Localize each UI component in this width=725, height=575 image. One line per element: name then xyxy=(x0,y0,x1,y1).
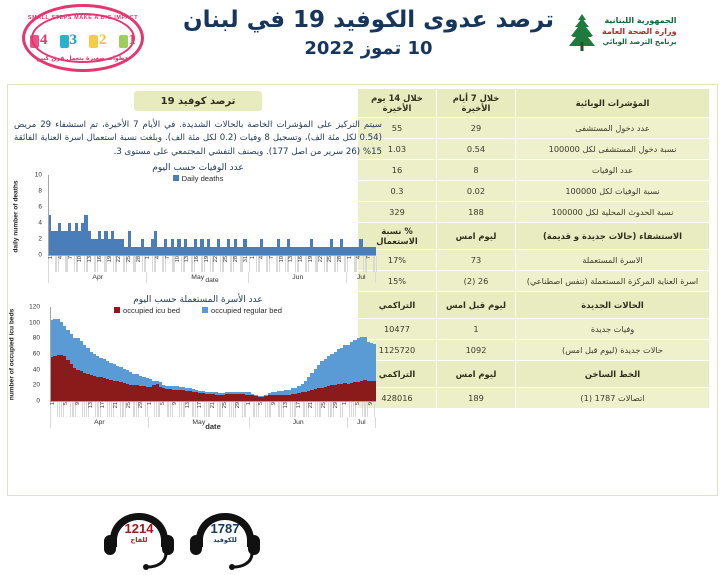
x-tick-label: 31 xyxy=(244,256,250,262)
x-tick: 25 xyxy=(327,256,334,272)
x-tick-label: 9 xyxy=(272,402,278,405)
ministry-label: وزارة الصحة العامة xyxy=(602,27,677,38)
row-value-1: 189 xyxy=(437,388,516,409)
x-tick-label: 1 xyxy=(247,402,253,405)
x-tick: 10 xyxy=(279,256,286,272)
x-tick: 25 xyxy=(125,402,132,417)
x-tick: 9 xyxy=(172,402,179,417)
page-header: SMALL STEPS MAKE A BIG IMPACT 1 2 3 4 xyxy=(0,0,725,80)
table-row: عدد دخول المستشفى 29 55 xyxy=(358,118,710,139)
chart-daily-deaths: عدد الوفيات حسب اليوم Daily deaths daily… xyxy=(12,163,384,281)
x-tick: 19 xyxy=(204,256,211,272)
x-tick: 1 xyxy=(48,256,55,272)
x-tick-label: 7 xyxy=(166,256,172,259)
chart-title: عدد الوفيات حسب اليوم xyxy=(12,163,384,173)
x-tick: 13 xyxy=(184,402,191,417)
logo-slogan-en: SMALL STEPS MAKE A BIG IMPACT xyxy=(22,15,144,21)
x-tick: 1 xyxy=(245,402,252,417)
x-tick-label: 29 xyxy=(334,402,340,408)
x-tick: 17 xyxy=(197,402,204,417)
main-panel: المؤشرات الوبائية خلال 7 أيام الأخيرة خل… xyxy=(7,84,718,496)
x-tick: 16 xyxy=(97,256,104,272)
y-tick-label: 6 xyxy=(38,203,42,210)
x-tick: 13 xyxy=(283,402,290,417)
y-axis-line xyxy=(50,307,51,401)
bars-container xyxy=(50,307,376,401)
y-axis-label: daily number of deaths xyxy=(10,173,22,261)
logo-step-2-number: 2 xyxy=(99,33,107,48)
x-tick-label: 1 xyxy=(148,402,154,405)
x-tick: 7 xyxy=(269,256,276,272)
y-tick-label: 0 xyxy=(36,397,40,404)
y-tick-label: 10 xyxy=(35,171,42,178)
section-title: الاستشفاء (حالات جديدة و قديمة) xyxy=(516,223,710,250)
x-tick: 17 xyxy=(295,402,302,417)
logo-step-4: 4 xyxy=(30,33,48,48)
x-tick-label: 19 xyxy=(108,256,114,262)
col-yesterday: ليوم امس xyxy=(437,361,516,388)
table-row: نسبة الوفيات لكل 100000 0.02 0.3 xyxy=(358,181,710,202)
x-tick-label: 25 xyxy=(127,402,133,408)
status-badge: ترصد كوفيد 19 xyxy=(134,91,262,111)
x-tick-label: 13 xyxy=(289,256,295,262)
x-tick: 9 xyxy=(75,402,82,417)
x-tick-label: 13 xyxy=(185,256,191,262)
x-tick: 5 xyxy=(258,402,265,417)
covid-hotline-number: 1787 xyxy=(186,521,264,536)
x-tick-label: 5 xyxy=(259,402,265,405)
page-title-block: ترصد عدوى الكوفيد 19 في لبنان 10 تموز 20… xyxy=(180,6,557,60)
x-tick: 1 xyxy=(342,402,349,417)
row-label: نسبة دخول المستشفى لكل 100000 xyxy=(516,139,710,160)
x-tick-label: 5 xyxy=(161,402,167,405)
y-tick-label: 2 xyxy=(38,235,42,242)
x-tick-label: 13 xyxy=(89,402,95,408)
chart-plot-area: daily number of deaths 0246810 147101316… xyxy=(12,173,384,281)
x-tick-label: 7 xyxy=(69,256,75,259)
x-tick: 1 xyxy=(147,402,154,417)
x-tick-label: 28 xyxy=(234,256,240,262)
chart-plot-area: number of occupied icu beds 020406080100… xyxy=(12,305,384,431)
x-tick: 31 xyxy=(242,256,249,272)
y-axis-ticks: 0246810 xyxy=(22,175,44,255)
x-tick: 17 xyxy=(100,402,107,417)
x-tick: 21 xyxy=(209,402,216,417)
x-axis-name: date xyxy=(48,277,376,284)
y-tick-label: 0 xyxy=(38,251,42,258)
x-tick: 9 xyxy=(367,402,375,417)
y-tick-label: 20 xyxy=(33,382,40,389)
logo-step-3-number: 3 xyxy=(70,33,78,48)
x-tick-label: 25 xyxy=(322,402,328,408)
logo-step-1-number: 1 xyxy=(129,33,137,48)
x-tick-label: 21 xyxy=(211,402,217,408)
x-tick: 28 xyxy=(135,256,142,272)
section-header-new-cases: الحالات الجديدة ليوم قبل امس التراكمي xyxy=(358,292,710,319)
row-label: عدد الوفيات xyxy=(516,160,710,181)
program-label: برنامج الترصد الوبائي xyxy=(602,38,677,47)
x-tick-label: 17 xyxy=(101,402,107,408)
x-tick-label: 16 xyxy=(299,256,305,262)
x-tick-label: 29 xyxy=(236,402,242,408)
hotline-badges: 1214 للقاح 1787 للكوفيد xyxy=(92,505,272,575)
chart-occupied-beds: عدد الأسرة المستعملة حسب اليوم occupied … xyxy=(12,295,384,431)
x-tick: 25 xyxy=(222,402,229,417)
x-tick-label: 7 xyxy=(367,256,373,259)
x-tick-label: 4 xyxy=(156,256,162,259)
x-tick: 28 xyxy=(337,256,344,272)
ministry-logo: الجمهورية اللبنانية وزارة الصحة العامة ب… xyxy=(567,6,717,58)
x-tick: 7 xyxy=(165,256,172,272)
x-tick-label: 10 xyxy=(78,256,84,262)
x-tick-label: 4 xyxy=(260,256,266,259)
table-row: الاسرة المستعملة 73 17% xyxy=(358,250,710,271)
table-header-row: المؤشرات الوبائية خلال 7 أيام الأخيرة خل… xyxy=(358,89,710,118)
row-label: عدد دخول المستشفى xyxy=(516,118,710,139)
x-tick-label: 25 xyxy=(224,256,230,262)
logo-step-2-icon xyxy=(89,35,98,48)
table-row: حالات جديدة (ليوم قبل امس) 1092 1125720 xyxy=(358,340,710,361)
bar-segment xyxy=(373,247,376,255)
table-row: عدد الوفيات 8 16 xyxy=(358,160,710,181)
x-tick-label: 17 xyxy=(297,402,303,408)
y-axis-ticks: 020406080100120 xyxy=(20,307,42,401)
x-tick-label: 10 xyxy=(280,256,286,262)
x-tick-label: 4 xyxy=(59,256,65,259)
row-label: اتصالات 1787 (1) xyxy=(516,388,710,409)
y-tick-label: 40 xyxy=(33,366,40,373)
covid-dashboard-page: SMALL STEPS MAKE A BIG IMPACT 1 2 3 4 xyxy=(0,0,725,515)
x-tick: 22 xyxy=(116,256,123,272)
x-tick: 29 xyxy=(235,402,242,417)
row-value-1: 1 xyxy=(437,319,516,340)
x-tick-label: 1 xyxy=(146,256,152,259)
x-tick: 13 xyxy=(184,256,191,272)
x-tick: 16 xyxy=(194,256,201,272)
x-tick: 21 xyxy=(308,402,315,417)
x-tick-label: 16 xyxy=(195,256,201,262)
x-tick: 28 xyxy=(233,256,240,272)
logo-steps: 1 2 3 4 xyxy=(30,26,136,54)
republic-label: الجمهورية اللبنانية xyxy=(602,16,677,27)
vaccine-hotline: 1214 للقاح xyxy=(100,507,178,573)
x-tick-label: 9 xyxy=(173,402,179,405)
page-title: ترصد عدوى الكوفيد 19 في لبنان xyxy=(180,6,557,35)
row-value-7: 0.54 xyxy=(437,139,516,160)
x-tick: 4 xyxy=(58,256,65,272)
x-tick: 4 xyxy=(259,256,266,272)
logo-step-3-icon xyxy=(60,35,69,48)
x-tick: 10 xyxy=(77,256,84,272)
covid-hotline: 1787 للكوفيد xyxy=(186,507,264,573)
row-value-1: 73 xyxy=(437,250,516,271)
x-tick: 22 xyxy=(317,256,324,272)
x-tick-label: 22 xyxy=(214,256,220,262)
vaccine-hotline-caption: للقاح xyxy=(100,536,178,544)
chart-bar xyxy=(373,307,376,401)
x-tick-label: 1 xyxy=(49,256,55,259)
x-tick-label: 29 xyxy=(139,402,145,408)
section-title: الخط الساخن xyxy=(516,361,710,388)
bar-segment-icu xyxy=(373,381,376,401)
table-row: نسبة الحدوث المحلية لكل 100000 188 329 xyxy=(358,202,710,223)
x-tick: 4 xyxy=(155,256,162,272)
logo-step-3: 3 xyxy=(60,33,78,48)
x-tick: 10 xyxy=(174,256,181,272)
x-tick-label: 28 xyxy=(338,256,344,262)
row-value-7: 29 xyxy=(437,118,516,139)
x-tick-label: 7 xyxy=(270,256,276,259)
x-tick-label: 16 xyxy=(98,256,104,262)
row-label: اسرة العناية المركزة المستعملة (تنفس اصط… xyxy=(516,271,710,292)
y-tick-label: 8 xyxy=(38,187,42,194)
row-value-7: 0.02 xyxy=(437,181,516,202)
row-value-1: 1092 xyxy=(437,340,516,361)
vaccine-hotline-number: 1214 xyxy=(100,521,178,536)
row-label: نسبة الحدوث المحلية لكل 100000 xyxy=(516,202,710,223)
y-tick-label: 80 xyxy=(33,335,40,342)
x-tick-label: 17 xyxy=(198,402,204,408)
chart-title: عدد الأسرة المستعملة حسب اليوم xyxy=(12,295,384,305)
x-tick: 16 xyxy=(298,256,305,272)
x-tick-label: 1 xyxy=(51,402,57,405)
x-tick-label: 22 xyxy=(319,256,325,262)
indicators-table: المؤشرات الوبائية خلال 7 أيام الأخيرة خل… xyxy=(357,88,710,409)
x-tick: 5 xyxy=(63,402,70,417)
x-tick-label: 13 xyxy=(186,402,192,408)
x-tick: 29 xyxy=(333,402,340,417)
x-tick: 9 xyxy=(270,402,277,417)
col-last-7-days: خلال 7 أيام الأخيرة xyxy=(437,89,516,118)
x-tick-label: 5 xyxy=(64,402,70,405)
table-row: اسرة العناية المركزة المستعملة (تنفس اصط… xyxy=(358,271,710,292)
x-tick-label: 19 xyxy=(205,256,211,262)
chart-bar xyxy=(373,175,376,255)
y-axis-line xyxy=(48,175,49,255)
x-tick xyxy=(374,256,376,272)
bars-container xyxy=(48,175,376,255)
logo-step-4-icon xyxy=(30,35,39,48)
x-tick-label: 13 xyxy=(88,256,94,262)
section-header-hotline: الخط الساخن ليوم امس التراكمي xyxy=(358,361,710,388)
x-tick: 13 xyxy=(288,256,295,272)
x-tick-label: 10 xyxy=(176,256,182,262)
x-tick: 21 xyxy=(113,402,120,417)
x-tick: 19 xyxy=(106,256,113,272)
y-tick-label: 100 xyxy=(29,319,40,326)
x-tick-label: 21 xyxy=(114,402,120,408)
y-axis-label: number of occupied icu beds xyxy=(6,305,18,405)
y-tick-label: 120 xyxy=(29,303,40,310)
x-axis-name: date xyxy=(50,422,376,431)
ministry-text: الجمهورية اللبنانية وزارة الصحة العامة ب… xyxy=(602,16,677,47)
x-tick: 22 xyxy=(213,256,220,272)
x-tick: 25 xyxy=(320,402,327,417)
x-axis-day-ticks: 1471013161922252814710131619222528311471… xyxy=(48,256,376,272)
x-tick: 25 xyxy=(126,256,133,272)
x-tick: 7 xyxy=(366,256,373,272)
x-tick-label: 1 xyxy=(348,256,354,259)
x-tick: 1 xyxy=(145,256,152,272)
x-tick-label: 13 xyxy=(284,402,290,408)
indicators-table-wrapper: المؤشرات الوبائية خلال 7 أيام الأخيرة خل… xyxy=(385,88,710,409)
x-tick: 13 xyxy=(87,256,94,272)
bar-segment-regular xyxy=(373,344,376,381)
x-tick-label: 9 xyxy=(76,402,82,405)
x-tick-label: 9 xyxy=(369,402,375,405)
y-tick-label: 60 xyxy=(33,350,40,357)
page-date: 10 تموز 2022 xyxy=(180,37,557,60)
summary-and-charts: ترصد كوفيد 19 سيتم التركيز على المؤشرات … xyxy=(12,89,384,493)
x-tick: 4 xyxy=(356,256,363,272)
logo-step-4-number: 4 xyxy=(40,33,48,48)
x-tick: 25 xyxy=(223,256,230,272)
col-yesterday: ليوم امس xyxy=(437,223,516,250)
row-label: حالات جديدة (ليوم قبل امس) xyxy=(516,340,710,361)
cedar-tree-icon xyxy=(567,12,597,52)
logo-step-1: 1 xyxy=(119,33,137,48)
logo-slogan-ar: خطوات صغيرة بتعمل فرق كبير xyxy=(22,55,144,62)
covid-hotline-caption: للكوفيد xyxy=(186,536,264,544)
x-tick-label: 19 xyxy=(309,256,315,262)
x-tick: 7 xyxy=(67,256,74,272)
col-day-before-yesterday: ليوم قبل امس xyxy=(437,292,516,319)
x-tick-label: 25 xyxy=(328,256,334,262)
row-value-1: 26 (2) xyxy=(437,271,516,292)
x-tick-label: 1 xyxy=(251,256,257,259)
table-row: اتصالات 1787 (1) 189 428016 xyxy=(358,388,710,409)
table-row: وفيات جديدة 1 10477 xyxy=(358,319,710,340)
section-title: الحالات الجديدة xyxy=(516,292,710,319)
x-tick: 29 xyxy=(138,402,145,417)
logo-step-1-icon xyxy=(119,35,128,48)
x-tick: 19 xyxy=(308,256,315,272)
summary-paragraph: سيتم التركيز على المؤشرات الخاصة بالحالا… xyxy=(14,119,382,159)
col-indicator: المؤشرات الوبائية xyxy=(516,89,710,118)
y-tick-label: 4 xyxy=(38,219,42,226)
x-tick-label: 25 xyxy=(127,256,133,262)
row-label: وفيات جديدة xyxy=(516,319,710,340)
x-tick-label: 21 xyxy=(309,402,315,408)
x-tick: 1 xyxy=(249,256,256,272)
x-tick-label: 28 xyxy=(137,256,143,262)
logo-step-2: 2 xyxy=(89,33,107,48)
row-label: نسبة الوفيات لكل 100000 xyxy=(516,181,710,202)
small-steps-logo: SMALL STEPS MAKE A BIG IMPACT 1 2 3 4 xyxy=(22,4,144,72)
section-header-hospitalization: الاستشفاء (حالات جديدة و قديمة) ليوم امس… xyxy=(358,223,710,250)
x-tick: 1 xyxy=(347,256,354,272)
x-axis-day-ticks: 1591317212529159131721252915913172125291… xyxy=(50,402,376,417)
x-tick-label: 5 xyxy=(356,402,362,405)
x-tick: 13 xyxy=(88,402,95,417)
row-value-7: 188 xyxy=(437,202,516,223)
x-tick-label: 25 xyxy=(223,402,229,408)
row-value-7: 8 xyxy=(437,160,516,181)
x-tick-label: 4 xyxy=(357,256,363,259)
x-tick: 1 xyxy=(50,402,57,417)
row-label: الاسرة المستعملة xyxy=(516,250,710,271)
x-tick: 5 xyxy=(355,402,362,417)
x-tick-label: 1 xyxy=(343,402,349,405)
table-row: نسبة دخول المستشفى لكل 100000 0.54 1.03 xyxy=(358,139,710,160)
x-tick: 5 xyxy=(159,402,166,417)
x-tick-label: 22 xyxy=(117,256,123,262)
